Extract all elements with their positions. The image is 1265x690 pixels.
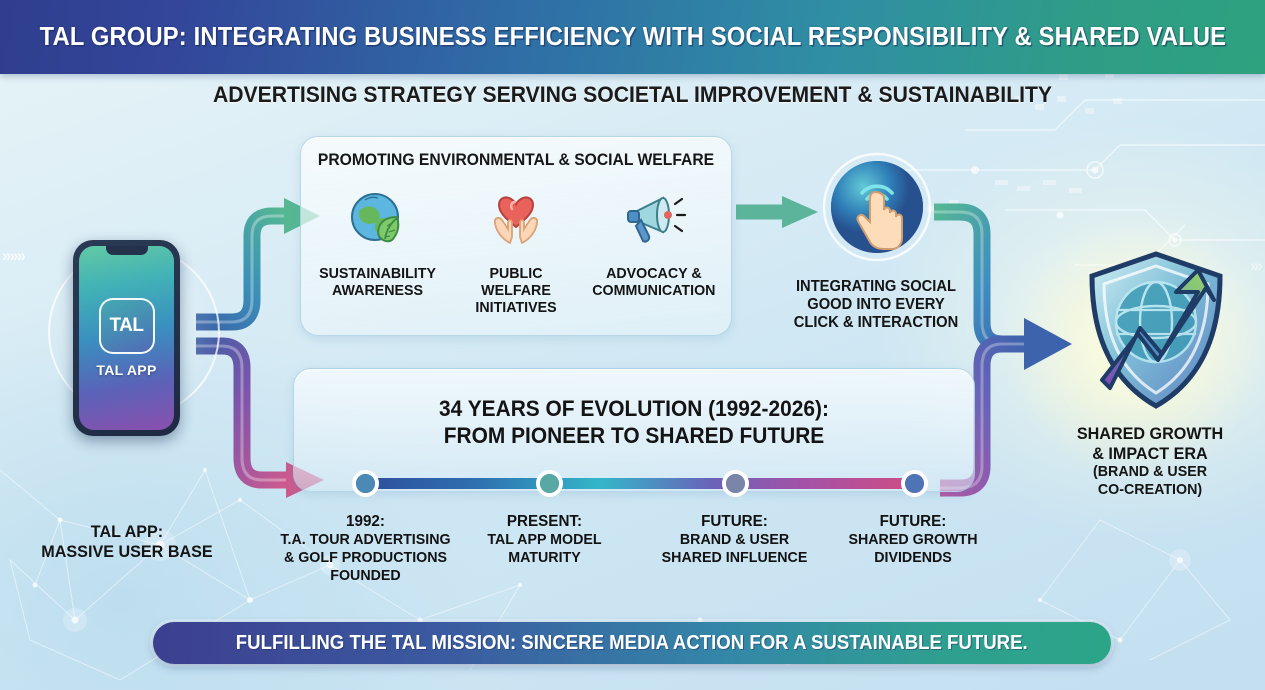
tal-logo-text: TAL	[109, 315, 143, 337]
phone-caption-line2: MASSIVE USER BASE	[25, 542, 228, 562]
phone-notch	[106, 246, 148, 255]
chevron-decoration-left: ››››››	[2, 246, 24, 266]
tap-caption-line2: GOOD INTO EVERY	[773, 296, 978, 314]
timeline-track	[352, 478, 915, 489]
outcome-caption-line2: & IMPACT ERA	[1046, 444, 1255, 464]
pillar-advocacy-label: ADVOCACY & COMMUNICATION	[592, 265, 715, 299]
shield-globe-growth-icon	[1080, 248, 1232, 416]
timeline-label-2: PRESENT: TAL APP MODEL MATURITY	[466, 512, 623, 567]
header-bar: TAL GROUP: INTEGRATING BUSINESS EFFICIEN…	[0, 0, 1265, 74]
phone-caption-line1: TAL APP:	[25, 522, 228, 542]
chevron-decoration-right: ›››	[1250, 256, 1261, 276]
welfare-card-title: PROMOTING ENVIRONMENTAL & SOCIAL WELFARE	[312, 151, 721, 170]
pillar-advocacy: ADVOCACY & COMMUNICATION	[590, 181, 718, 316]
megaphone-icon	[619, 181, 689, 259]
outcome-caption-line1: SHARED GROWTH	[1046, 424, 1255, 444]
infographic-canvas: ›››››› ›››	[0, 0, 1265, 690]
timeline-node-1[interactable]	[352, 470, 379, 497]
smartphone-icon: TAL TAL APP	[73, 240, 180, 436]
outcome-caption-line3: (BRAND & USER	[1046, 463, 1255, 480]
pillar-sustainability: SUSTAINABILITY AWARENESS	[314, 181, 442, 316]
tal-app-name: TAL APP	[96, 362, 156, 378]
mission-banner-text: FULFILLING THE TAL MISSION: SINCERE MEDI…	[236, 632, 1028, 655]
phone-caption: TAL APP: MASSIVE USER BASE	[25, 522, 228, 561]
welfare-pillars: SUSTAINABILITY AWARENESS PUBLIC WELFARE …	[309, 181, 723, 316]
pillar-public-welfare: PUBLIC WELFARE INITIATIVES	[452, 181, 580, 316]
timeline-title: 34 YEARS OF EVOLUTION (1992-2026): FROM …	[311, 396, 957, 450]
timeline-node-3[interactable]	[722, 470, 749, 497]
phone-screen: TAL TAL APP	[79, 246, 174, 430]
pillar-sustainability-label: SUSTAINABILITY AWARENESS	[320, 265, 437, 299]
timeline-node-4[interactable]	[901, 470, 928, 497]
tap-caption: INTEGRATING SOCIAL GOOD INTO EVERY CLICK…	[773, 278, 978, 332]
outcome-caption: SHARED GROWTH & IMPACT ERA (BRAND & USER…	[1046, 424, 1255, 498]
tap-caption-line1: INTEGRATING SOCIAL	[773, 278, 978, 296]
hands-heart-icon	[483, 181, 549, 259]
timeline-label-3: FUTURE: BRAND & USER SHARED INFLUENCE	[647, 512, 823, 567]
subtitle: ADVERTISING STRATEGY SERVING SOCIETAL IM…	[38, 82, 1227, 108]
pillar-public-welfare-label: PUBLIC WELFARE INITIATIVES	[455, 265, 577, 316]
welfare-card: PROMOTING ENVIRONMENTAL & SOCIAL WELFARE	[300, 136, 732, 336]
tal-app-logo: TAL	[99, 298, 155, 354]
timeline-node-2[interactable]	[536, 470, 563, 497]
mission-banner: FULFILLING THE TAL MISSION: SINCERE MEDI…	[153, 622, 1111, 664]
page-title: TAL GROUP: INTEGRATING BUSINESS EFFICIEN…	[39, 23, 1226, 52]
timeline-label-1: 1992: T.A. TOUR ADVERTISING & GOLF PRODU…	[277, 512, 455, 585]
tap-hand-icon	[818, 152, 936, 270]
globe-leaf-icon	[345, 181, 411, 259]
outcome-caption-line4: CO-CREATION)	[1046, 481, 1255, 498]
timeline-card: 34 YEARS OF EVOLUTION (1992-2026): FROM …	[293, 368, 975, 492]
timeline-label-4: FUTURE: SHARED GROWTH DIVIDENDS	[832, 512, 994, 567]
tap-caption-line3: CLICK & INTERACTION	[773, 314, 978, 332]
